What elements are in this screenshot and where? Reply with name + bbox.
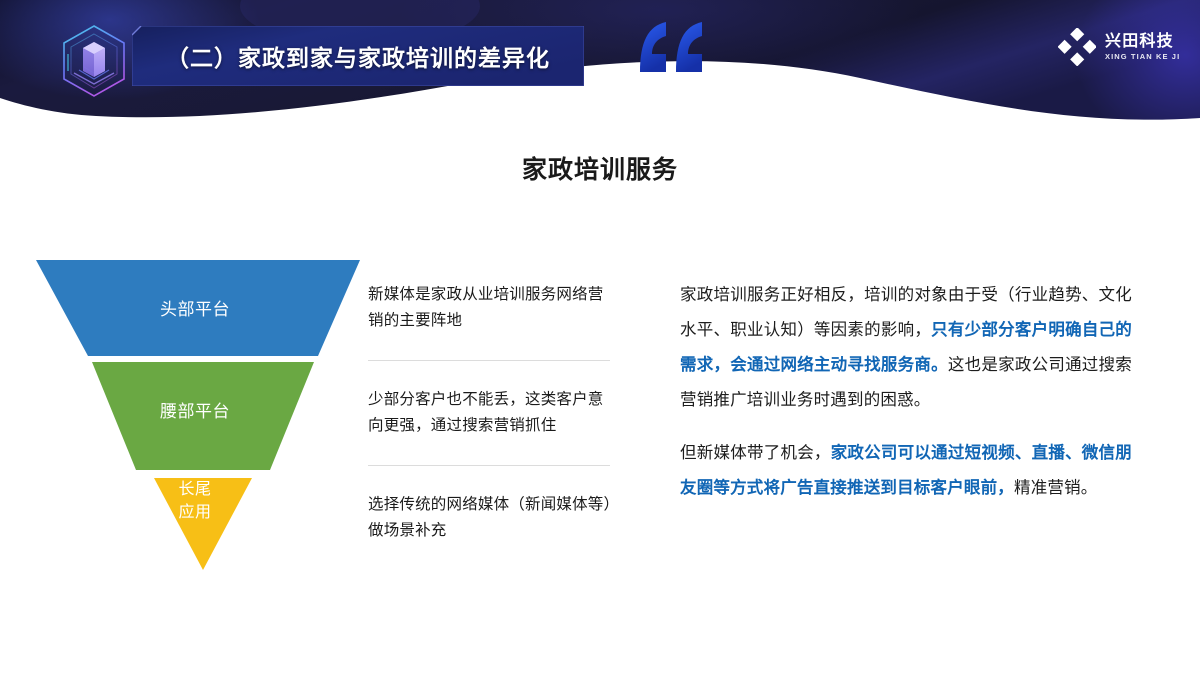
list-item-text: 选择传统的网络媒体（新闻媒体等）做场景补充 bbox=[368, 492, 613, 544]
funnel-level-1-shape bbox=[92, 362, 314, 470]
funnel-level-0-shape bbox=[36, 260, 360, 356]
funnel-level-2-shape bbox=[154, 478, 252, 570]
paragraph: 家政培训服务正好相反，培训的对象由于受（行业趋势、文化水平、职业认知）等因素的影… bbox=[680, 278, 1132, 418]
list-item: 少部分客户也不能丢，这类客户意向更强，通过搜索营销抓住 bbox=[368, 361, 613, 465]
plain-text: 精准营销。 bbox=[1014, 479, 1098, 497]
paragraph: 但新媒体带了机会，家政公司可以通过短视频、直播、微信朋友圈等方式将广告直接推送到… bbox=[680, 436, 1132, 506]
brand-logo: 兴田科技 XING TIAN KE JI bbox=[1058, 28, 1180, 66]
funnel-annotation-list: 新媒体是家政从业培训服务网络营销的主要阵地 少部分客户也不能丢，这类客户意向更强… bbox=[368, 282, 613, 544]
list-item: 选择传统的网络媒体（新闻媒体等）做场景补充 bbox=[368, 466, 613, 544]
funnel-diagram: 头部平台 腰部平台 长尾 应用 bbox=[20, 250, 370, 580]
brand-name-cn: 兴田科技 bbox=[1105, 34, 1180, 50]
double-quote-icon bbox=[636, 20, 708, 76]
header-title-text: （二）家政到家与家政培训的差异化 bbox=[132, 26, 584, 86]
brand-name-en: XING TIAN KE JI bbox=[1105, 53, 1180, 61]
page-title: 家政培训服务 bbox=[0, 150, 1200, 186]
brand-text: 兴田科技 XING TIAN KE JI bbox=[1105, 34, 1180, 61]
plain-text: 但新媒体带了机会， bbox=[680, 444, 831, 462]
list-item-text: 少部分客户也不能丢，这类客户意向更强，通过搜索营销抓住 bbox=[368, 387, 613, 439]
body-text-column: 家政培训服务正好相反，培训的对象由于受（行业趋势、文化水平、职业认知）等因素的影… bbox=[680, 278, 1132, 506]
header-title-pill: （二）家政到家与家政培训的差异化 bbox=[132, 26, 584, 86]
four-diamond-logo-icon bbox=[1058, 28, 1096, 66]
hexagon-cube-icon bbox=[48, 16, 140, 108]
list-item: 新媒体是家政从业培训服务网络营销的主要阵地 bbox=[368, 282, 613, 360]
slide-header: （二）家政到家与家政培训的差异化 兴田科技 XING TIAN KE JI bbox=[0, 0, 1200, 130]
funnel-shapes bbox=[20, 250, 370, 580]
list-item-text: 新媒体是家政从业培训服务网络营销的主要阵地 bbox=[368, 282, 613, 334]
